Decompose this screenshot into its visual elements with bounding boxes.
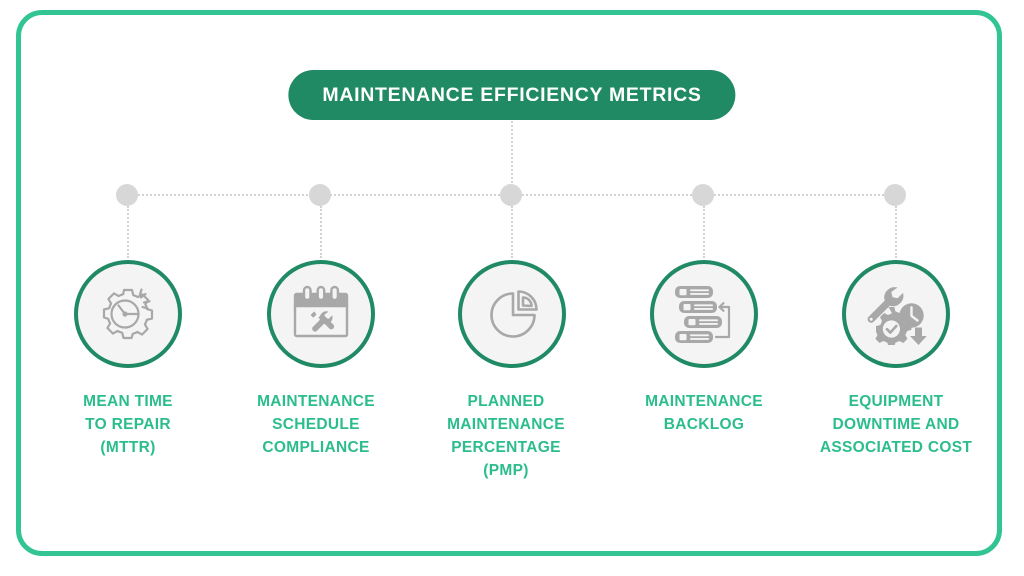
metric-label-line: ASSOCIATED COST [776,436,1016,459]
metric-label-line: TO REPAIR [23,413,233,436]
infographic-canvas: MAINTENANCE EFFICIENCY METRICS [0,0,1024,576]
node-dot-schedule-compliance [309,184,331,206]
icon-circle-backlog[interactable] [650,260,758,368]
pie-chart-icon [481,285,543,343]
node-dot-downtime-cost [884,184,906,206]
page-title: MAINTENANCE EFFICIENCY METRICS [322,84,701,107]
calendar-tools-icon [289,284,353,344]
drop-line-schedule-compliance [320,206,322,258]
node-dot-mttr [116,184,138,206]
metric-label-pmp: PLANNED MAINTENANCE PERCENTAGE (PMP) [401,390,611,482]
node-dot-backlog [692,184,714,206]
metric-label-schedule-compliance: MAINTENANCE SCHEDULE COMPLIANCE [211,390,421,459]
task-list-loop-icon [671,283,737,345]
drop-line-backlog [703,206,705,258]
metric-label-line: (MTTR) [23,436,233,459]
icon-circle-pmp[interactable] [458,260,566,368]
icon-circle-downtime-cost[interactable] [842,260,950,368]
infographic-title-pill: MAINTENANCE EFFICIENCY METRICS [288,70,735,120]
icon-circle-mttr[interactable] [74,260,182,368]
node-dot-pmp [500,184,522,206]
metric-label-line: (PMP) [401,459,611,482]
metric-label-line: PERCENTAGE [401,436,611,459]
metric-label-line: PLANNED [401,390,611,413]
drop-line-downtime-cost [895,206,897,258]
drop-line-mttr [127,206,129,258]
wrench-gear-clock-arrow-icon [863,283,929,345]
gear-gauge-icon [97,283,159,345]
drop-line-pmp [511,206,513,258]
metric-label-line: EQUIPMENT [776,390,1016,413]
metric-label-line: COMPLIANCE [211,436,421,459]
icon-circle-schedule-compliance[interactable] [267,260,375,368]
metric-label-line: MAINTENANCE [211,390,421,413]
metric-label-line: SCHEDULE [211,413,421,436]
metric-label-line: DOWNTIME AND [776,413,1016,436]
metric-label-downtime-cost: EQUIPMENT DOWNTIME AND ASSOCIATED COST [776,390,1016,459]
metric-label-line: MAINTENANCE [401,413,611,436]
metric-label-line: MEAN TIME [23,390,233,413]
title-connector-line [511,121,513,183]
metric-label-mttr: MEAN TIME TO REPAIR (MTTR) [23,390,233,459]
